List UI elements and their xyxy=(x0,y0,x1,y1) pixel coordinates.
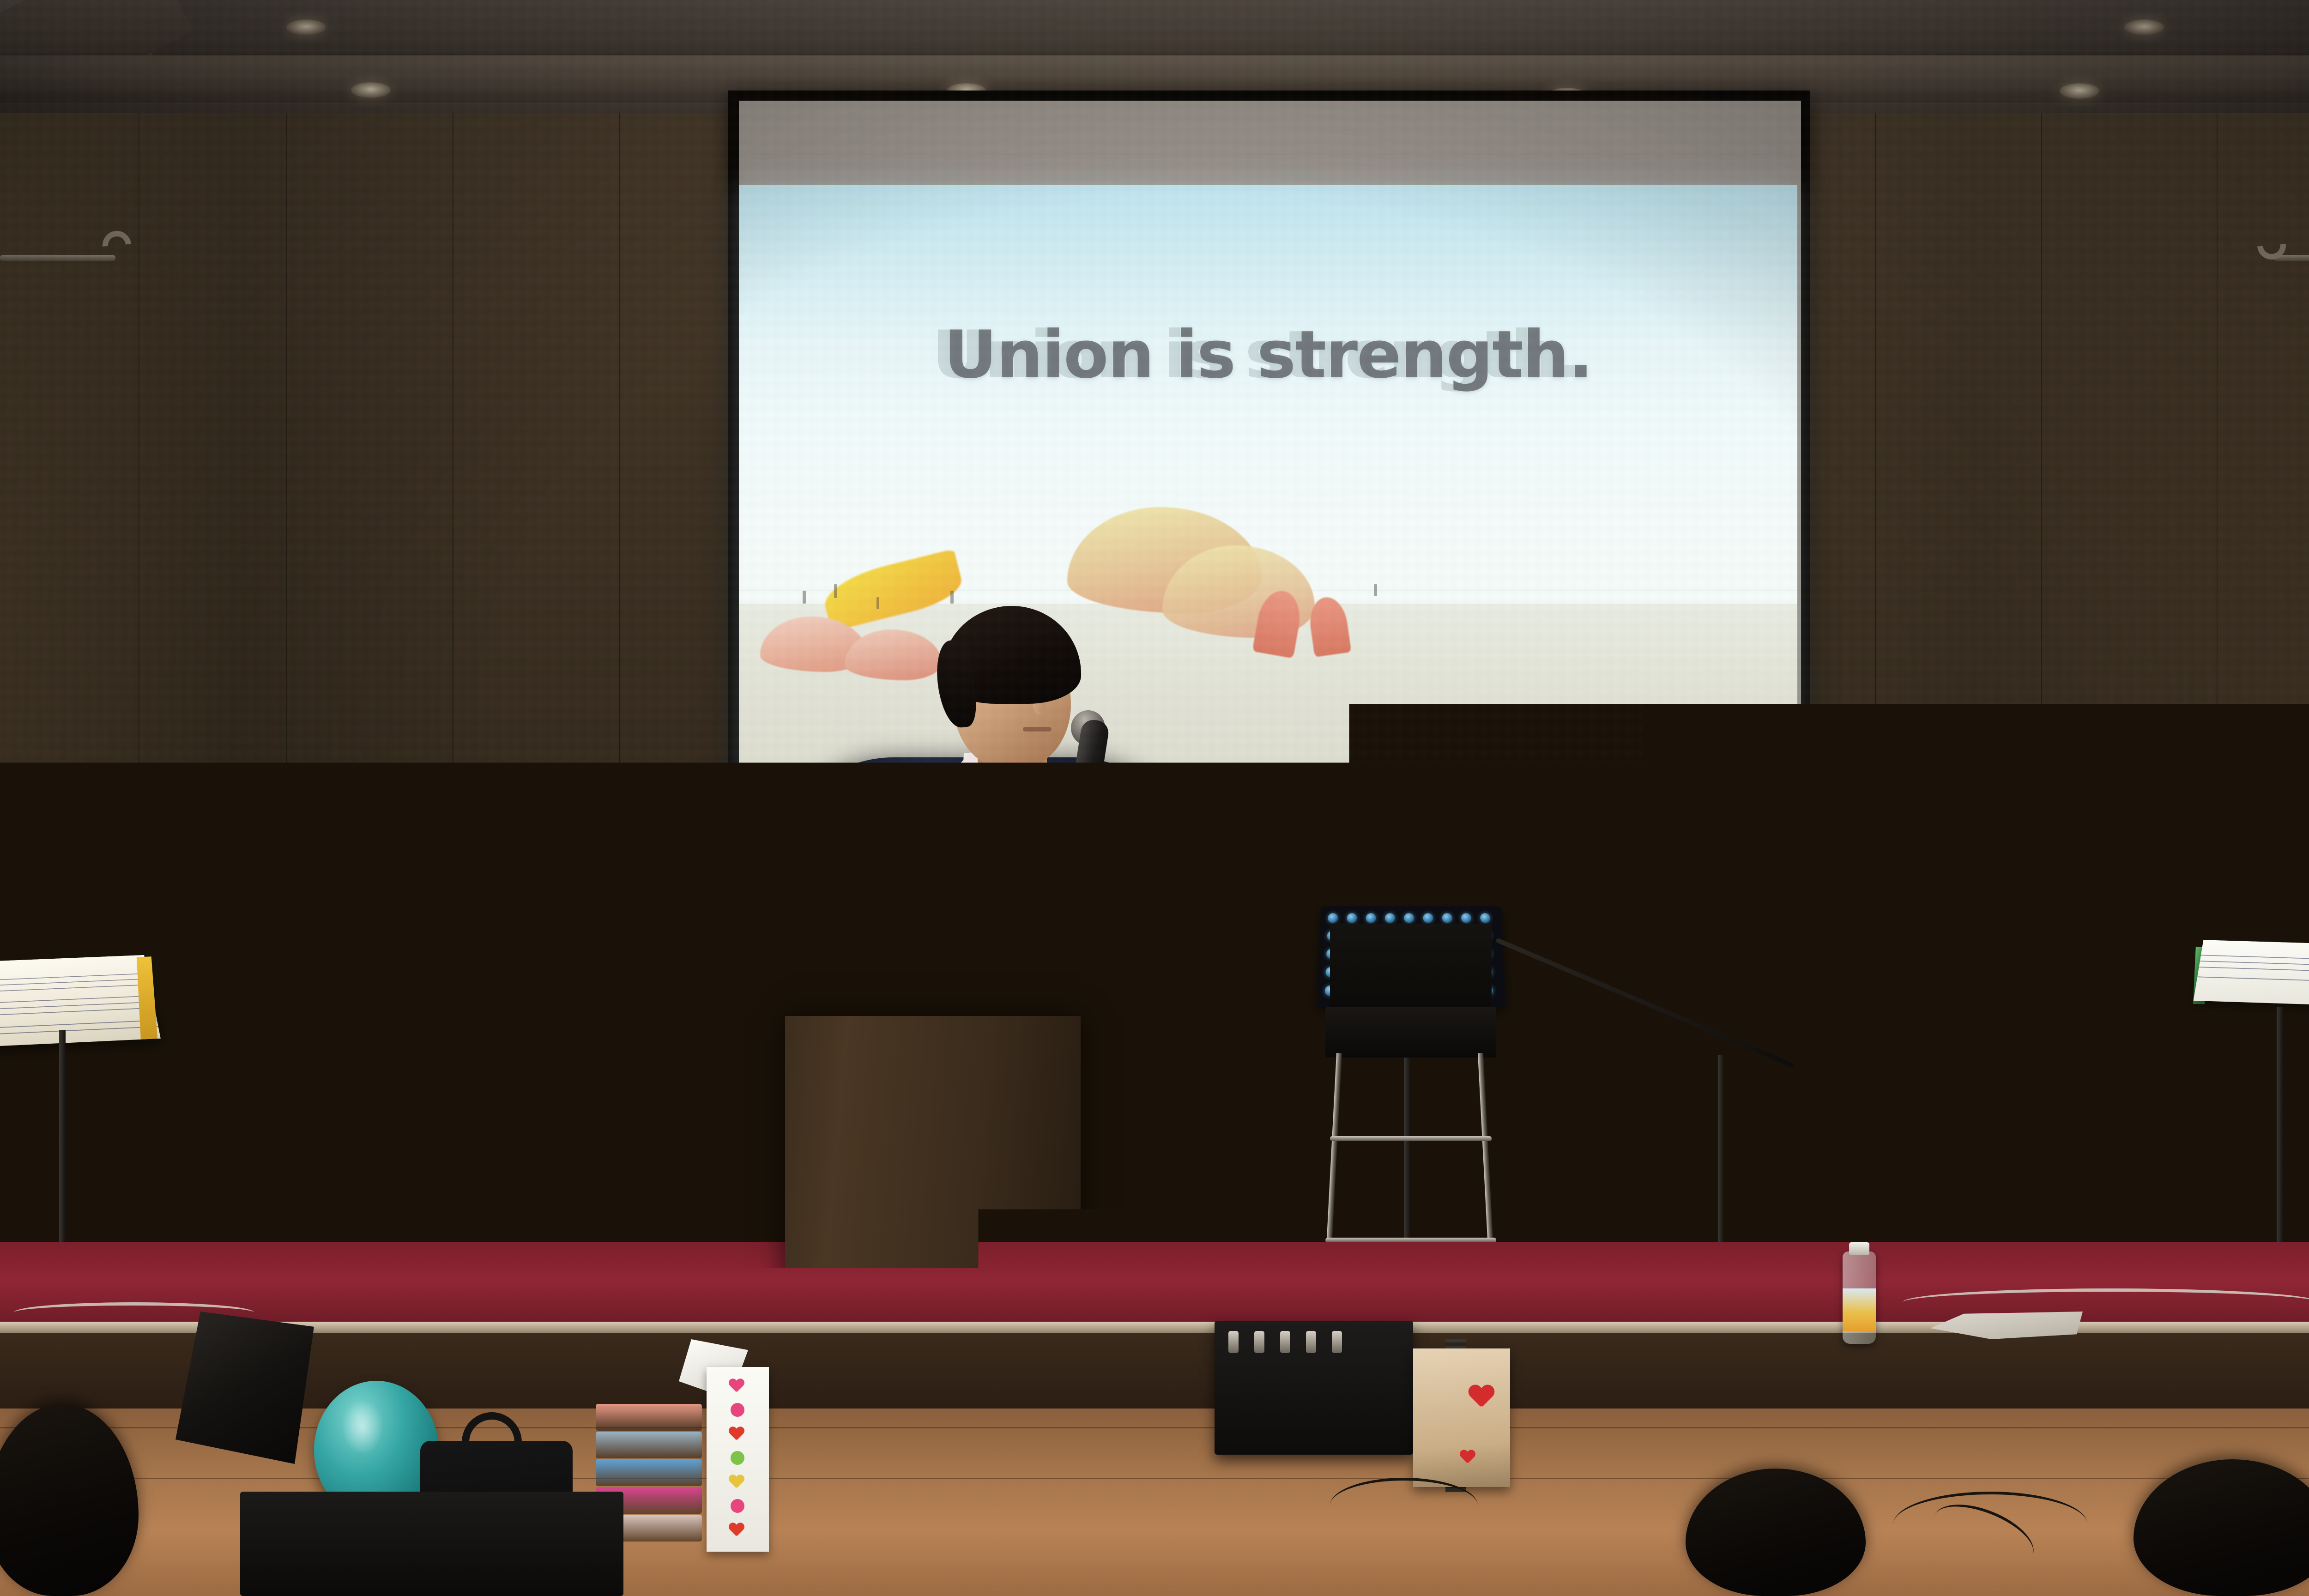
apple-logo-icon xyxy=(909,970,930,994)
curtain-rod-left xyxy=(0,255,115,261)
stool-backrest xyxy=(1330,924,1492,1011)
slide-figure-icon xyxy=(834,584,837,598)
mouth xyxy=(1023,727,1052,731)
tom-drum-head xyxy=(429,988,588,1053)
white-power-cable xyxy=(1903,1288,2309,1316)
wooden-lectern xyxy=(785,1016,1081,1596)
stool-footrest xyxy=(1330,1136,1492,1141)
cymbal-stand xyxy=(416,836,421,1187)
slide-figure-icon xyxy=(1374,584,1377,596)
bar-stool xyxy=(1325,1007,1496,1265)
heart-icon xyxy=(729,1427,744,1442)
orange-gear-case xyxy=(1681,1038,1778,1062)
storage-box xyxy=(596,1404,702,1431)
paper-tote-bag xyxy=(1413,1348,1510,1487)
heart-icon xyxy=(729,1523,744,1538)
sheet-music xyxy=(2194,940,2309,1007)
music-stand-hole xyxy=(1461,913,1471,923)
storage-box xyxy=(596,1432,702,1458)
music-stand-hole xyxy=(1480,913,1490,923)
open-songbook xyxy=(0,955,161,1047)
heart-icon xyxy=(729,1379,744,1394)
wall-light-gradient-right xyxy=(1978,113,2309,903)
slide-sky-band xyxy=(739,185,1797,339)
stool-seat xyxy=(1325,1007,1496,1058)
music-stand-hole xyxy=(1347,913,1357,923)
storage-box xyxy=(596,1459,702,1486)
stage-lighting-fixture xyxy=(175,1312,314,1464)
audio-mixer xyxy=(1215,1321,1413,1455)
music-stand-hole xyxy=(1423,913,1433,923)
amp-power-indicator-icon xyxy=(1603,1074,1627,1097)
ceiling-downlight-icon xyxy=(351,82,391,98)
stool-leg xyxy=(1325,1053,1342,1265)
ball-highlight xyxy=(342,1399,383,1455)
music-stand-hole xyxy=(1404,913,1414,923)
patterned-board xyxy=(707,1367,769,1552)
stool-leg xyxy=(1478,1053,1494,1265)
cymbal-stand xyxy=(344,917,349,1212)
music-stand-hole xyxy=(1442,913,1452,923)
monitor-grille xyxy=(1662,1151,1861,1243)
polka-dot-icon xyxy=(731,1403,744,1417)
heart-icon xyxy=(729,1475,744,1490)
music-stand-hole xyxy=(1366,913,1376,923)
stage-presentation-photo: Union is strength. Union is strength. xyxy=(0,0,2309,1596)
ceiling-downlight-icon xyxy=(2124,19,2164,35)
slide-title: Union is strength. xyxy=(739,317,1797,393)
finger xyxy=(1077,828,1122,845)
heart-icon xyxy=(1469,1385,1494,1409)
foreground-speaker-box xyxy=(240,1492,623,1596)
music-stand-hole xyxy=(1328,913,1338,923)
ceiling-downlight-icon xyxy=(286,19,326,35)
ceiling-downlight-icon xyxy=(2060,83,2099,99)
coiled-cable xyxy=(1330,1478,1478,1533)
bottle-label xyxy=(1843,1288,1876,1331)
crash-cymbal-icon xyxy=(356,822,499,846)
polka-dot-icon xyxy=(731,1451,744,1465)
heart-icon xyxy=(1460,1450,1475,1464)
polka-dot-icon xyxy=(731,1499,744,1513)
music-stand-hole xyxy=(1385,913,1395,923)
bottle-cap xyxy=(1849,1242,1869,1255)
